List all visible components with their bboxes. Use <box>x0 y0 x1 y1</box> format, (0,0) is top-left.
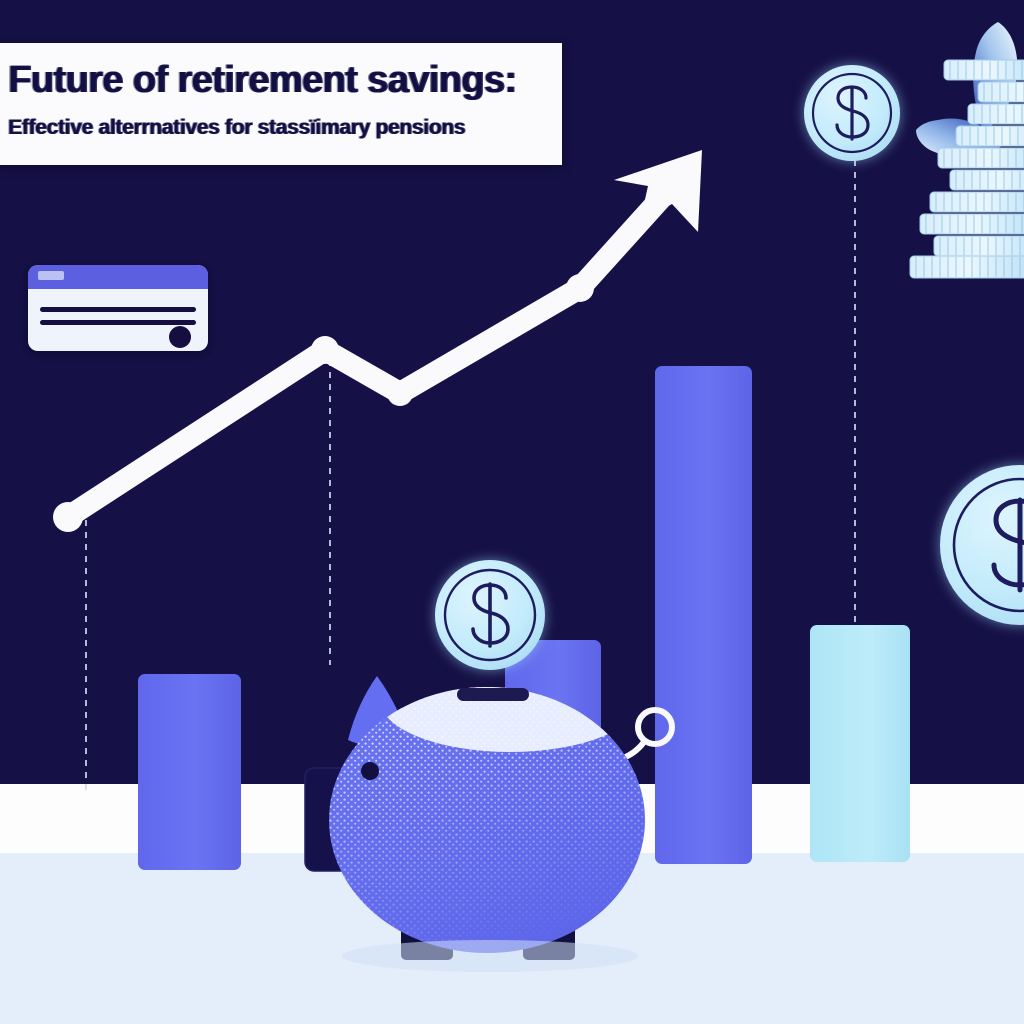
trend-marker-1 <box>53 502 83 532</box>
coin-disc-1 <box>910 256 1024 278</box>
page-subtitle: Effective alterrnatives for stassïimary … <box>8 116 465 140</box>
bar-4-tallest <box>655 366 752 864</box>
illustration-canvas: Future of retirement savings: Effective … <box>0 0 1024 1024</box>
credit-card-chip-dot <box>169 326 191 348</box>
dollar-coin-above-piggy <box>435 560 545 670</box>
coin-disc-3 <box>920 214 1024 234</box>
title-card: Future of retirement savings: Effective … <box>0 43 562 165</box>
piggy-coin-slot <box>457 688 529 701</box>
coin-disc-10 <box>944 60 1024 80</box>
credit-card-brandmark <box>38 271 64 280</box>
coin-disc-8 <box>968 104 1024 124</box>
dollar-coin-top-right <box>804 65 900 161</box>
piggy-eye <box>361 762 379 780</box>
bar-5 <box>810 625 910 862</box>
trend-marker-4 <box>566 274 594 302</box>
trend-marker-3 <box>387 380 413 406</box>
coin-disc-9 <box>978 82 1024 102</box>
bar-1 <box>138 674 241 870</box>
piggy-ground-shadow <box>342 940 638 972</box>
credit-card-stripe-1 <box>40 307 196 312</box>
page-title: Future of retirement savings: <box>8 59 516 102</box>
coin-disc-7 <box>956 126 1024 146</box>
coin-disc-5 <box>950 170 1024 190</box>
credit-card <box>28 265 208 351</box>
credit-card-stripe-2 <box>40 320 196 325</box>
coin-disc-6 <box>938 148 1024 168</box>
trend-marker-2 <box>311 336 339 364</box>
